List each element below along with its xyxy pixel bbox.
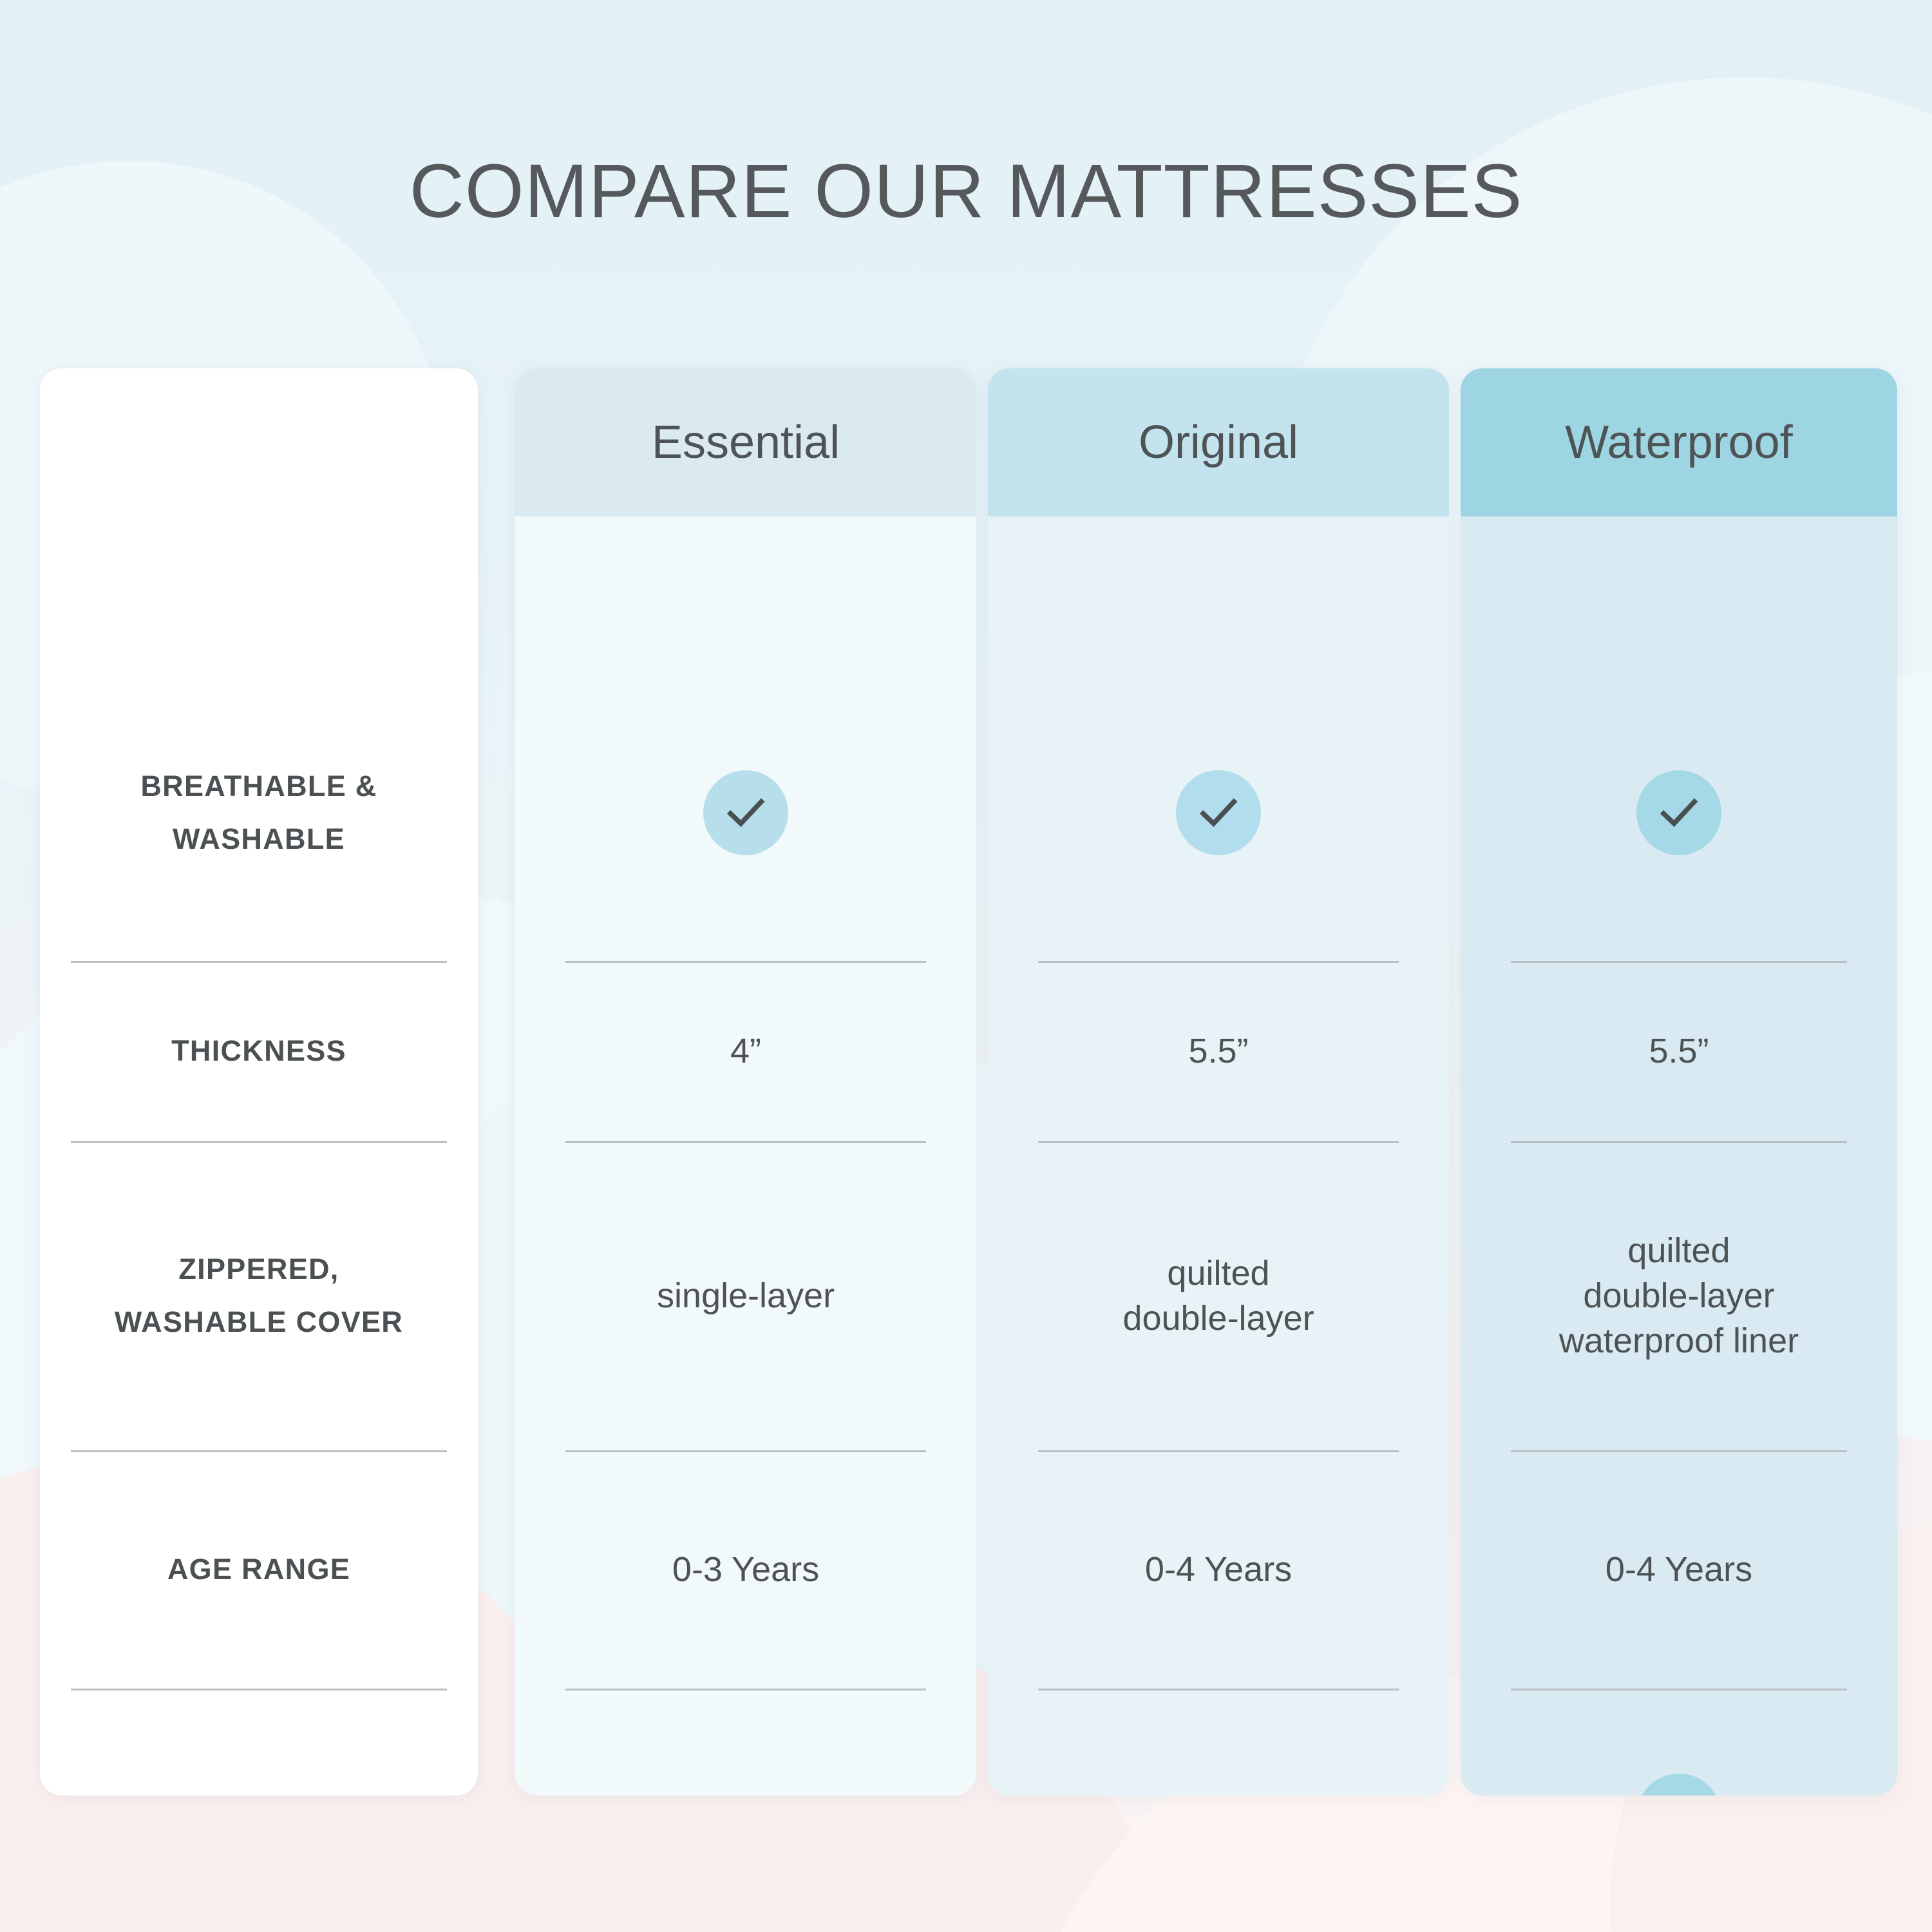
feature-label-row: ZIPPERED, WASHABLE COVER xyxy=(40,1141,478,1450)
feature-label-text: BREATHABLE & WASHABLE xyxy=(118,760,399,866)
value-cell xyxy=(988,665,1449,961)
value-text: quilted double-layer xyxy=(1106,1251,1331,1341)
column-body-essential: 4”single-layer0-3 Years- xyxy=(515,516,976,1795)
value-cell xyxy=(515,665,976,961)
product-column-original[interactable]: Original 5.5”quilted double-layer0-4 Yea… xyxy=(988,368,1449,1795)
product-column-waterproof[interactable]: Waterproof 5.5”quilted double-layer wate… xyxy=(1461,368,1897,1795)
label-column-body: BREATHABLE & WASHABLETHICKNESSZIPPERED, … xyxy=(40,516,478,1795)
value-text: quilted double-layer waterproof liner xyxy=(1542,1228,1815,1363)
row-divider xyxy=(565,961,926,963)
value-text: - xyxy=(723,1794,768,1795)
feature-label-text: AGE RANGE xyxy=(146,1543,372,1596)
row-divider xyxy=(1511,1141,1847,1143)
check-icon-wrapper xyxy=(703,770,788,855)
row-divider xyxy=(1038,961,1399,963)
value-text: 0-4 Years xyxy=(1128,1547,1309,1592)
value-cell: 0-3 Years xyxy=(515,1450,976,1689)
comparison-infographic: COMPARE OUR MATTRESSES BREATHABLE & WASH… xyxy=(0,0,1932,1932)
row-divider xyxy=(1511,1689,1847,1690)
value-cell: quilted double-layer xyxy=(988,1141,1449,1450)
column-body-waterproof: 5.5”quilted double-layer waterproof line… xyxy=(1461,516,1897,1795)
check-icon xyxy=(1636,770,1721,855)
check-icon-wrapper xyxy=(1176,770,1261,855)
value-text: single-layer xyxy=(640,1273,851,1318)
check-icon xyxy=(1176,770,1261,855)
value-text: 4” xyxy=(714,1028,778,1074)
feature-label-text: THICKNESS xyxy=(149,1025,368,1077)
label-column-header-spacer xyxy=(40,368,478,516)
row-divider xyxy=(1038,1450,1399,1452)
feature-label-text: ZIPPERED, WASHABLE COVER xyxy=(93,1243,425,1349)
value-cell xyxy=(1461,1689,1897,1795)
page-title: COMPARE OUR MATTRESSES xyxy=(0,149,1932,233)
column-header-original: Original xyxy=(988,368,1449,516)
row-divider xyxy=(71,1689,447,1690)
value-text: 5.5” xyxy=(1632,1028,1725,1074)
check-icon-wrapper xyxy=(1636,1774,1721,1795)
value-text: 5.5” xyxy=(1171,1028,1265,1074)
row-divider xyxy=(565,1141,926,1143)
value-cell: 0-4 Years xyxy=(1461,1450,1897,1689)
row-divider xyxy=(1511,1450,1847,1452)
column-body-original: 5.5”quilted double-layer0-4 Years- xyxy=(988,516,1449,1795)
value-cell: 5.5” xyxy=(988,961,1449,1141)
value-cell: - xyxy=(515,1689,976,1795)
value-cell xyxy=(1461,665,1897,961)
feature-label-row: WATERPROOF xyxy=(40,1689,478,1795)
row-divider xyxy=(71,1450,447,1452)
feature-label-column: BREATHABLE & WASHABLETHICKNESSZIPPERED, … xyxy=(40,368,478,1795)
row-divider xyxy=(71,1141,447,1143)
value-cell: single-layer xyxy=(515,1141,976,1450)
value-text: 0-3 Years xyxy=(656,1547,836,1592)
value-cell: - xyxy=(988,1689,1449,1795)
row-divider xyxy=(1511,961,1847,963)
check-icon xyxy=(703,770,788,855)
feature-label-text: WATERPROOF xyxy=(130,1790,388,1795)
value-cell: quilted double-layer waterproof liner xyxy=(1461,1141,1897,1450)
row-divider xyxy=(71,961,447,963)
row-divider xyxy=(565,1450,926,1452)
value-text: 0-4 Years xyxy=(1589,1547,1769,1592)
value-text: - xyxy=(1196,1794,1241,1795)
value-cell: 0-4 Years xyxy=(988,1450,1449,1689)
row-divider xyxy=(1038,1689,1399,1690)
column-header-waterproof: Waterproof xyxy=(1461,368,1897,516)
feature-label-row: THICKNESS xyxy=(40,961,478,1141)
feature-label-row: BREATHABLE & WASHABLE xyxy=(40,665,478,961)
check-icon xyxy=(1636,1774,1721,1795)
check-icon-wrapper xyxy=(1636,770,1721,855)
column-header-essential: Essential xyxy=(515,368,976,516)
product-column-essential[interactable]: Essential 4”single-layer0-3 Years- xyxy=(515,368,976,1795)
value-cell: 4” xyxy=(515,961,976,1141)
value-cell: 5.5” xyxy=(1461,961,1897,1141)
feature-label-row: AGE RANGE xyxy=(40,1450,478,1689)
row-divider xyxy=(1038,1141,1399,1143)
row-divider xyxy=(565,1689,926,1690)
